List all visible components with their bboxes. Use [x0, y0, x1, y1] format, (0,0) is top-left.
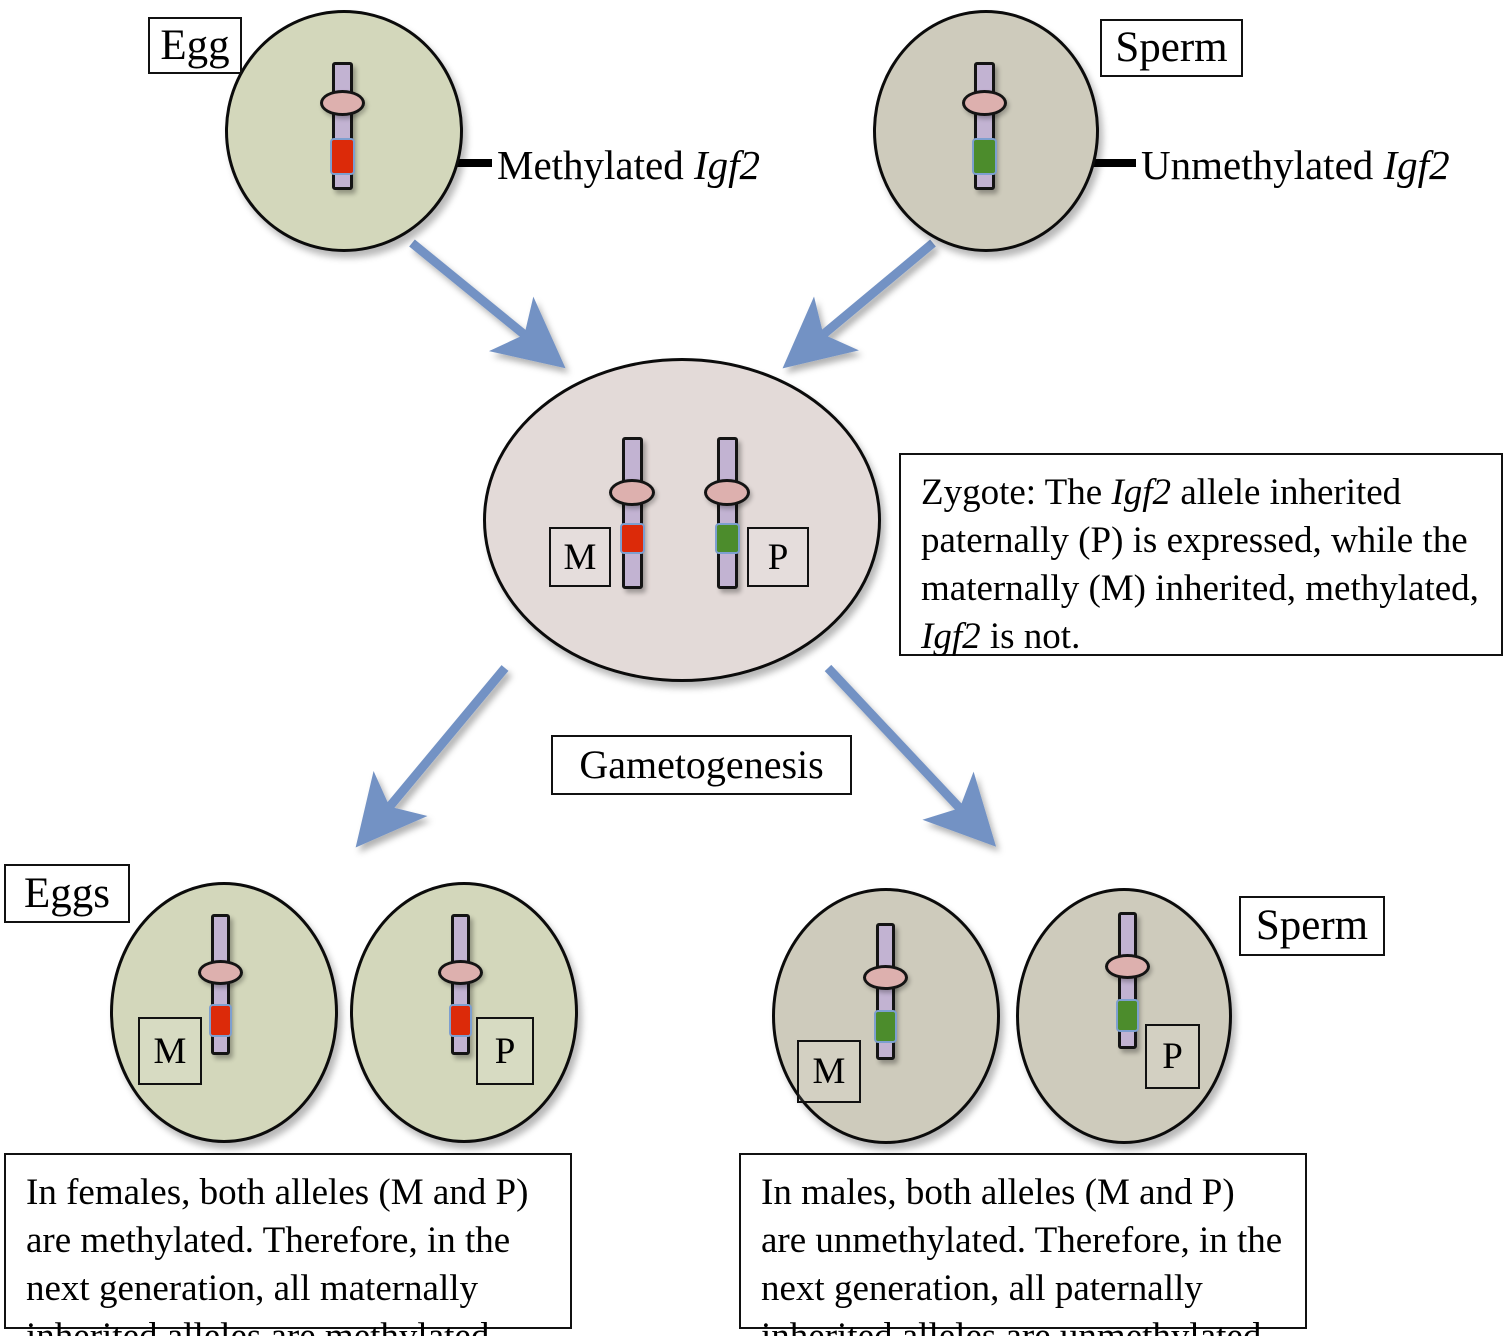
egg-gamete-1-chip-label: M [154, 1030, 187, 1073]
zygote-caption-box: Zygote: The Igf2 allele inherited patern… [899, 453, 1503, 656]
igf2-band-unmethylated [715, 523, 740, 554]
egg-gamete-2-chip: P [476, 1017, 534, 1085]
zygote-maternal-chip: M [549, 527, 611, 587]
sperm-gamete-1-chip-label: M [813, 1050, 846, 1093]
centromere-icon [609, 479, 655, 506]
sperm-gamete-1-chromosome [876, 923, 895, 1060]
arrow-sperm-to-zygote [795, 243, 933, 358]
chromosome-arm [717, 437, 738, 589]
imprinting-diagram: Egg Methylated Igf2 Sperm Unmethylated I… [0, 0, 1509, 1336]
centromere-icon [320, 90, 365, 116]
sperm-gamete-2-chromosome [1118, 912, 1137, 1049]
centromere-icon [198, 960, 243, 985]
centromere-icon [1105, 954, 1150, 979]
egg-gamete-1-chromosome [211, 914, 230, 1055]
zygote-paternal-chip: P [747, 527, 809, 587]
methylated-callout-text: Methylated [497, 142, 694, 188]
eggs-label-box: Eggs [4, 864, 130, 923]
females-caption-text: In females, both alleles (M and P) are m… [26, 1172, 528, 1336]
zygote-cell [483, 358, 881, 682]
zygote-caption-gene1: Igf2 [1111, 472, 1171, 513]
egg-label-box: Egg [148, 17, 242, 74]
zygote-caption-gene2: Igf2 [921, 616, 981, 657]
males-caption-text: In males, both alleles (M and P) are unm… [761, 1172, 1282, 1336]
igf2-band-methylated [620, 523, 645, 554]
arrow-zygote-to-eggs [366, 668, 505, 835]
methylated-igf2-callout: Methylated Igf2 [497, 141, 760, 189]
igf2-band-methylated [449, 1004, 472, 1037]
zygote-maternal-chip-label: M [564, 536, 597, 579]
gametogenesis-label-box: Gametogenesis [551, 735, 852, 795]
sperm-gametes-label-box: Sperm [1239, 896, 1385, 956]
unmethylated-igf2-callout: Unmethylated Igf2 [1141, 141, 1450, 189]
sperm-label: Sperm [1115, 25, 1227, 70]
zygote-caption-part1: Zygote: The [921, 472, 1111, 513]
zygote-maternal-chromosome [622, 437, 643, 589]
egg-gamete-2-chip-label: P [495, 1030, 516, 1073]
egg-label: Egg [160, 23, 229, 68]
egg-chromosome [332, 62, 353, 190]
sperm-gamete-2-chip: P [1145, 1024, 1200, 1089]
centromere-icon [704, 479, 750, 506]
unmethylated-callout-gene: Igf2 [1384, 142, 1450, 188]
sperm-gametes-label: Sperm [1256, 903, 1368, 948]
males-caption-box: In males, both alleles (M and P) are unm… [739, 1153, 1307, 1329]
zygote-caption-part3: is not. [981, 616, 1081, 657]
igf2-band-unmethylated [1116, 999, 1139, 1032]
igf2-band-methylated [209, 1004, 232, 1037]
centromere-icon [962, 90, 1007, 116]
egg-gamete-1-chip: M [138, 1017, 202, 1085]
zygote-paternal-chip-label: P [768, 536, 789, 579]
igf2-band-methylated [330, 138, 355, 175]
igf2-band-unmethylated [874, 1010, 897, 1043]
sperm-gamete-2-chip-label: P [1162, 1035, 1183, 1078]
unmethylated-callout-text: Unmethylated [1141, 142, 1384, 188]
eggs-label: Eggs [24, 871, 110, 916]
sperm-chromosome [974, 62, 995, 190]
methylated-callout-gene: Igf2 [694, 142, 760, 188]
arrow-egg-to-zygote [412, 243, 553, 358]
egg-gamete-2-chromosome [451, 914, 470, 1055]
sperm-gamete-1-chip: M [797, 1040, 861, 1103]
zygote-paternal-chromosome [717, 437, 738, 589]
centromere-icon [863, 965, 908, 990]
sperm-label-box: Sperm [1100, 19, 1243, 77]
igf2-band-unmethylated [972, 138, 997, 175]
chromosome-arm [622, 437, 643, 589]
centromere-icon [438, 960, 483, 985]
females-caption-box: In females, both alleles (M and P) are m… [4, 1153, 572, 1329]
gametogenesis-label: Gametogenesis [579, 744, 823, 786]
